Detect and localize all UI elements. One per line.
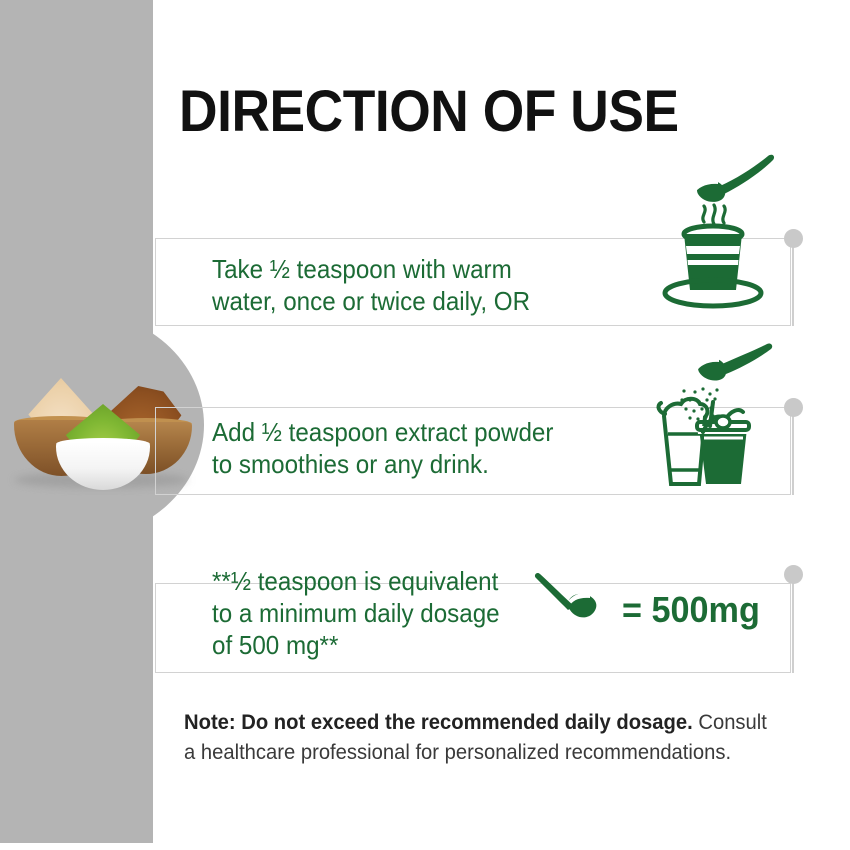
bottom-note: Note: Do not exceed the recommended dail… [184,707,772,767]
page-title: DIRECTION OF USE [179,78,679,145]
dosage-equivalence-label: = 500mg [622,589,760,631]
bottom-note-bold: Note: Do not exceed the recommended dail… [184,710,693,734]
spoon-over-glass-of-warm-water-icon [660,150,790,310]
pin-dot-3 [784,565,803,584]
pin-line-3 [792,583,794,673]
step-text-smoothie: Add ½ teaspoon extract powder to smoothi… [212,416,553,480]
infographic-canvas: DIRECTION OF USE Take ½ teaspoon with wa… [0,0,850,850]
step-text-warm-water: Take ½ teaspoon with warm water, once or… [212,253,530,317]
spoon-icon [530,562,630,642]
step-text-dosage: **½ teaspoon is equivalent to a minimum … [212,565,500,661]
spoon-sprinkling-powder-into-drinks-icon [655,342,795,492]
pin-line-1 [792,238,794,326]
